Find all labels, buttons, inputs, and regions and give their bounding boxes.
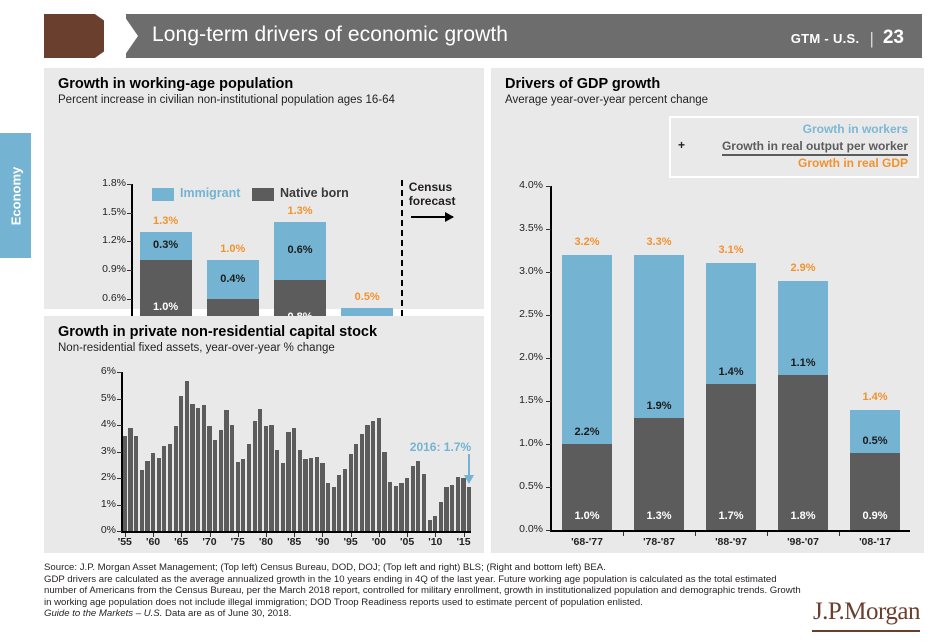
bar-capital-stock (264, 426, 268, 531)
x-axis-tick-label: '88-'97 (691, 536, 771, 548)
y-axis-tick-label: 3.0% (501, 265, 543, 277)
y-axis-tick (546, 487, 551, 488)
bar-capital-stock (128, 428, 132, 531)
bar-capital-stock (360, 434, 364, 531)
y-axis-tick (127, 270, 132, 271)
bar-label-immigrant: 0.4% (207, 273, 259, 285)
x-axis-tick-label: '15 (444, 536, 484, 548)
bar-label-growth-in-workers: 2.2% (562, 426, 612, 438)
bar-capital-stock (394, 486, 398, 531)
bar-label-total-gdp: 1.4% (840, 391, 910, 403)
header-meta: GTM - U.S.|23 (791, 27, 904, 49)
y-axis-tick-label: 2% (80, 471, 116, 483)
y-axis-tick-label: 1.8% (84, 177, 126, 189)
x-axis-tick (210, 533, 211, 537)
y-axis-tick (117, 452, 122, 453)
x-axis-tick-label: '78-'87 (619, 536, 699, 548)
bar-capital-stock (292, 428, 296, 531)
bar-capital-stock (140, 470, 144, 531)
bar-capital-stock (444, 487, 448, 531)
bar-capital-stock (151, 453, 155, 531)
bar-capital-stock (157, 458, 161, 531)
chart-gdp-drivers: 0.0%0.5%1.0%1.5%2.0%2.5%3.0%3.5%4.0%1.0%… (491, 68, 924, 553)
bar-capital-stock (303, 459, 307, 531)
bar-label-output-per-worker: 1.0% (562, 510, 612, 522)
y-axis-tick-label: 4% (80, 418, 116, 430)
y-axis-tick-label: 1.5% (501, 394, 543, 406)
bar-capital-stock (258, 409, 262, 531)
bar-capital-stock (269, 425, 273, 531)
bar-capital-stock (253, 421, 257, 531)
bar-capital-stock (236, 462, 240, 531)
bar-capital-stock (428, 520, 432, 531)
bar-label-total-gdp: 2.9% (768, 262, 838, 274)
x-axis-tick-label: '98-'07 (763, 536, 843, 548)
y-axis-tick-label: 3% (80, 445, 116, 457)
y-axis-tick-label: 5% (80, 392, 116, 404)
x-axis-tick-label: '08-'17 (835, 536, 915, 548)
bar-capital-stock (399, 483, 403, 531)
bar-capital-stock (349, 454, 353, 531)
bar-output-per-worker (778, 375, 828, 530)
x-axis-tick (322, 533, 323, 537)
legend-label-native-born: Native born (280, 186, 349, 200)
census-forecast-annotation: Censusforecast (409, 180, 456, 208)
x-axis-tick (294, 533, 295, 537)
bar-capital-stock (416, 461, 420, 531)
y-axis-tick-label: 2.0% (501, 351, 543, 363)
chart-working-age-population: 0.0%0.3%0.6%0.9%1.2%1.5%1.8%1.0%0.3%1.3%… (44, 68, 484, 309)
x-axis-tick (435, 533, 436, 537)
x-axis-line (550, 530, 910, 532)
bar-output-per-worker (706, 384, 756, 530)
bar-capital-stock (281, 463, 285, 531)
x-axis-tick (125, 533, 126, 537)
y-axis-tick (546, 272, 551, 273)
footnote-source: Source: J.P. Morgan Asset Management; (T… (44, 562, 804, 574)
y-axis-tick (117, 372, 122, 373)
bar-label-total: 1.3% (130, 215, 202, 227)
bar-capital-stock (286, 432, 290, 531)
census-forecast-arrow-icon (411, 216, 453, 218)
y-axis-tick-label: 1.2% (84, 234, 126, 246)
footnote-guide-date: Data are as of June 30, 2018. (162, 608, 291, 619)
bar-capital-stock (365, 425, 369, 531)
y-axis-tick-label: 0.0% (501, 523, 543, 535)
jpmorgan-logo-rule (812, 630, 920, 632)
header-divider: | (869, 29, 873, 49)
y-axis-tick (117, 531, 122, 532)
bar-label-growth-in-workers: 1.4% (706, 366, 756, 378)
bar-capital-stock (411, 466, 415, 531)
capital-stock-annotation-arrow-icon (468, 454, 470, 476)
y-axis-tick (546, 186, 551, 187)
bar-capital-stock (134, 436, 138, 531)
x-axis-tick (407, 533, 408, 537)
bar-label-total-gdp: 3.1% (696, 244, 766, 256)
bar-capital-stock (377, 418, 381, 531)
gtm-label: GTM - U.S. (791, 31, 860, 46)
y-axis-tick-label: 2.5% (501, 308, 543, 320)
y-axis-tick-label: 3.5% (501, 222, 543, 234)
x-axis-tick (266, 533, 267, 537)
capital-stock-annotation-label: 2016: 1.7% (391, 440, 471, 454)
bar-capital-stock (388, 482, 392, 531)
y-axis-tick (546, 401, 551, 402)
bar-capital-stock (241, 459, 245, 531)
y-axis-tick (117, 399, 122, 400)
y-axis-tick (546, 444, 551, 445)
bar-capital-stock (123, 436, 127, 531)
bar-capital-stock (145, 461, 149, 531)
bar-capital-stock (309, 458, 313, 531)
bar-label-growth-in-workers: 1.9% (634, 400, 684, 412)
bar-growth-in-workers (562, 255, 612, 444)
bar-capital-stock (162, 446, 166, 531)
bar-label-total-gdp: 3.3% (624, 236, 694, 248)
y-axis-tick (546, 358, 551, 359)
bar-capital-stock (196, 408, 200, 531)
bar-capital-stock (213, 440, 217, 531)
y-axis-tick (127, 299, 132, 300)
y-axis-tick-label: 1% (80, 498, 116, 510)
y-axis-tick-label: 4.0% (501, 179, 543, 191)
section-tab-label: Economy (8, 166, 23, 225)
bar-capital-stock (190, 404, 194, 531)
slide-header: Long-term drivers of economic growth GTM… (22, 14, 922, 58)
bar-capital-stock (326, 483, 330, 531)
bar-capital-stock (337, 475, 341, 531)
bar-label-total: 1.3% (264, 205, 336, 217)
y-axis-tick (117, 478, 122, 479)
bar-capital-stock (332, 487, 336, 531)
bar-capital-stock (343, 469, 347, 531)
legend-swatch-native-born (252, 188, 274, 201)
y-axis-tick (127, 241, 132, 242)
bar-capital-stock (179, 396, 183, 531)
panel-capital-stock: Growth in private non-residential capita… (44, 316, 484, 553)
y-axis-tick (127, 213, 132, 214)
x-axis-tick (238, 533, 239, 537)
bar-capital-stock (371, 421, 375, 531)
jpmorgan-logo: J.P.Morgan (813, 598, 920, 626)
footnote-guide-title: Guide to the Markets – U.S. (44, 608, 162, 619)
bar-capital-stock (422, 474, 426, 531)
y-axis-tick (117, 505, 122, 506)
bar-capital-stock (320, 463, 324, 531)
bar-capital-stock (174, 426, 178, 531)
section-tab-economy[interactable]: Economy (0, 133, 31, 258)
y-axis-tick-label: 0.5% (501, 480, 543, 492)
bar-capital-stock (433, 516, 437, 531)
panel-gdp-drivers: Drivers of GDP growth Average year-over-… (491, 68, 924, 553)
x-axis-tick (464, 533, 465, 537)
census-forecast-line1: Census (409, 180, 456, 194)
page-title: Long-term drivers of economic growth (152, 23, 508, 47)
x-axis-tick (153, 533, 154, 537)
bar-label-output-per-worker: 1.7% (706, 510, 756, 522)
y-axis-tick-label: 0% (80, 524, 116, 536)
x-axis-line (121, 531, 471, 533)
bar-capital-stock (354, 444, 358, 531)
x-axis-tick (379, 533, 380, 537)
bar-label-output-per-worker: 1.3% (634, 510, 684, 522)
y-axis-tick (127, 184, 132, 185)
bar-label-output-per-worker: 0.9% (850, 510, 900, 522)
bar-capital-stock (298, 450, 302, 531)
bar-label-total-gdp: 3.2% (552, 236, 622, 248)
footnote-guide: Guide to the Markets – U.S. Data are as … (44, 608, 804, 620)
bar-label-immigrant: 0.3% (140, 239, 192, 251)
bar-capital-stock (230, 425, 234, 531)
x-axis-tick-label: '68-'77 (547, 536, 627, 548)
bar-capital-stock (207, 426, 211, 531)
bar-capital-stock (405, 478, 409, 531)
footnote-methodology: GDP drivers are calculated as the averag… (44, 574, 804, 609)
bar-label-growth-in-workers: 1.1% (778, 357, 828, 369)
bar-capital-stock (456, 477, 460, 531)
y-axis-tick-label: 1.5% (84, 206, 126, 218)
bar-capital-stock (185, 381, 189, 531)
bar-capital-stock (467, 487, 471, 531)
x-axis-tick (181, 533, 182, 537)
panel-working-age-population: Growth in working-age population Percent… (44, 68, 484, 309)
bar-label-output-per-worker: 1.8% (778, 510, 828, 522)
bar-label-total: 0.5% (331, 291, 403, 303)
bar-capital-stock (450, 485, 454, 531)
y-axis-tick (546, 530, 551, 531)
slide: Long-term drivers of economic growth GTM… (0, 0, 934, 642)
bar-capital-stock (247, 444, 251, 531)
census-forecast-line2: forecast (409, 194, 456, 208)
y-axis-tick (117, 425, 122, 426)
bar-growth-in-workers (634, 255, 684, 418)
y-axis-tick-label: 1.0% (501, 437, 543, 449)
page-number: 23 (883, 27, 904, 48)
bar-capital-stock (461, 478, 465, 531)
bar-capital-stock (275, 450, 279, 531)
bar-label-native-born: 1.0% (140, 301, 192, 313)
legend-label-immigrant: Immigrant (180, 186, 240, 200)
bar-capital-stock (439, 502, 443, 531)
x-axis-tick (351, 533, 352, 537)
legend-swatch-immigrant (152, 188, 174, 201)
bar-label-total: 1.0% (197, 243, 269, 255)
y-axis-tick-label: 0.6% (84, 292, 126, 304)
y-axis-tick-label: 6% (80, 365, 116, 377)
bar-capital-stock (202, 405, 206, 531)
bar-capital-stock (382, 452, 386, 532)
footnote: Source: J.P. Morgan Asset Management; (T… (44, 562, 804, 620)
y-axis-tick (546, 229, 551, 230)
chart-capital-stock: 0%1%2%3%4%5%6%'55'60'65'70'75'80'85'90'9… (44, 316, 484, 553)
bar-label-growth-in-workers: 0.5% (850, 435, 900, 447)
bar-label-immigrant: 0.6% (274, 244, 326, 256)
bar-capital-stock (168, 444, 172, 531)
bar-capital-stock (224, 410, 228, 531)
y-axis-tick (546, 315, 551, 316)
y-axis-tick-label: 0.9% (84, 263, 126, 275)
bar-capital-stock (219, 430, 223, 531)
bar-capital-stock (315, 457, 319, 531)
